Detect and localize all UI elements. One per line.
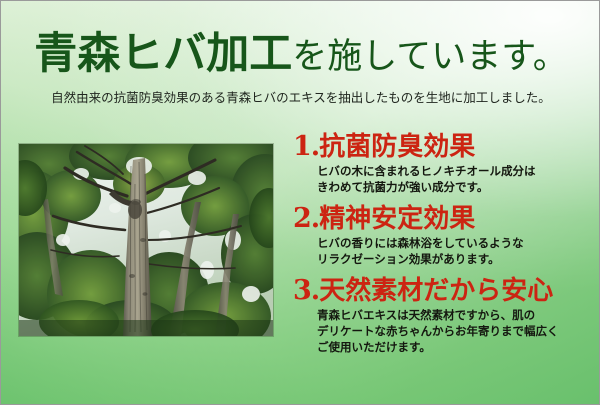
benefit-body-line: きわめて抗菌力が強い成分です。 <box>317 180 593 196</box>
benefit-body: 青森ヒバエキスは天然素材ですから、肌の デリケートな赤ちゃんからお年寄りまで幅広… <box>317 308 593 356</box>
benefit-body-line: ヒバの香りには森林浴をしているような <box>317 236 593 252</box>
poster-content: 青森ヒバ加工を施しています。 自然由来の抗菌防臭効果のある青森ヒバのエキスを抽出… <box>1 1 599 404</box>
benefit-title: 天然素材だから安心 <box>319 276 553 306</box>
benefit-heading: 2.精神安定効果 <box>293 205 593 233</box>
benefit-heading: 3.天然素材だから安心 <box>293 277 593 305</box>
benefit-body-line: 青森ヒバエキスは天然素材ですから、肌の <box>317 308 593 324</box>
forest-illustration <box>19 144 273 336</box>
benefit-body-line: ご使用いただけます。 <box>317 340 593 356</box>
page-subtitle: 自然由来の抗菌防臭効果のある青森ヒバのエキスを抽出したものを生地に加工しました。 <box>1 87 600 106</box>
promo-poster: 青森ヒバ加工を施しています。 自然由来の抗菌防臭効果のある青森ヒバのエキスを抽出… <box>0 0 600 405</box>
benefit-number: 3. <box>293 275 319 306</box>
benefit-title: 精神安定効果 <box>319 204 475 234</box>
hiba-forest-photo <box>19 144 273 336</box>
benefit-number: 2. <box>293 203 319 234</box>
benefit-body-line: リラクゼーション効果があります。 <box>317 252 593 268</box>
benefit-title: 抗菌防臭効果 <box>319 132 475 162</box>
list-item: 3.天然素材だから安心 青森ヒバエキスは天然素材ですから、肌の デリケートな赤ち… <box>293 277 593 356</box>
page-title-tail: を施しています。 <box>292 37 567 77</box>
benefit-heading: 1.抗菌防臭効果 <box>293 133 593 161</box>
list-item: 1.抗菌防臭効果 ヒバの木に含まれるヒノキチオール成分は きわめて抗菌力が強い成… <box>293 133 593 196</box>
benefit-number: 1. <box>293 131 319 162</box>
list-item: 2.精神安定効果 ヒバの香りには森林浴をしているような リラクゼーション効果があ… <box>293 205 593 268</box>
benefit-body: ヒバの木に含まれるヒノキチオール成分は きわめて抗菌力が強い成分です。 <box>317 164 593 196</box>
benefit-body-line: デリケートな赤ちゃんからお年寄りまで幅広く <box>317 324 593 340</box>
benefit-body: ヒバの香りには森林浴をしているような リラクゼーション効果があります。 <box>317 236 593 268</box>
benefits-list: 1.抗菌防臭効果 ヒバの木に含まれるヒノキチオール成分は きわめて抗菌力が強い成… <box>293 133 593 356</box>
page-title-main: 青森ヒバ加工 <box>34 29 292 79</box>
benefit-body-line: ヒバの木に含まれるヒノキチオール成分は <box>317 164 593 180</box>
page-title: 青森ヒバ加工を施しています。 <box>1 33 600 76</box>
